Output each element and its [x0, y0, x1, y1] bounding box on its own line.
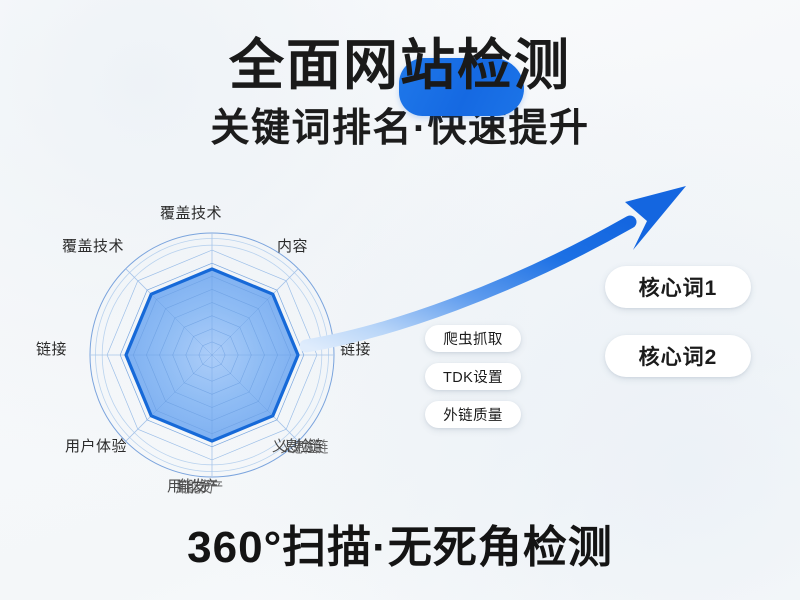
radar-label-upper-left: 覆盖技术: [62, 235, 124, 256]
title-suffix: 检测: [457, 34, 571, 96]
poster-canvas: 全面网站检测 关键词排名·快速提升 覆盖技术 内容 链接 义息检链 义息检链: [0, 0, 800, 600]
radar-label-top: 覆盖技术: [160, 202, 222, 223]
pill-core-keyword-1[interactable]: 核心词1: [605, 266, 751, 308]
footer-tagline: 360°扫描·无死角检测: [0, 522, 800, 574]
title-highlight-text: 网站: [343, 34, 457, 96]
radar-label-lower-right: 义息检链 义息检链: [272, 435, 352, 455]
pill-tdk-settings[interactable]: TDK设置: [425, 363, 521, 390]
radar-label-lower-left: 用户体验: [65, 435, 127, 456]
pill-core-keyword-2[interactable]: 核心词2: [605, 335, 751, 377]
pill-crawler-fetch[interactable]: 爬虫抓取: [425, 325, 521, 352]
radar-label-left: 链接: [36, 338, 67, 359]
radar-label-bottom: 用能发产 用能发产: [167, 475, 247, 495]
radar-label-bottom-ghost: 用能发产: [175, 476, 220, 497]
page-title: 全面网站检测: [229, 34, 571, 96]
pill-backlink-quality[interactable]: 外链质量: [425, 401, 521, 428]
radar-label-lower-right-ghost: 义息检链: [280, 436, 325, 457]
page-subtitle: 关键词排名·快速提升: [0, 106, 800, 152]
headline-block: 全面网站检测 关键词排名·快速提升: [0, 34, 800, 152]
title-prefix: 全面: [229, 34, 343, 96]
